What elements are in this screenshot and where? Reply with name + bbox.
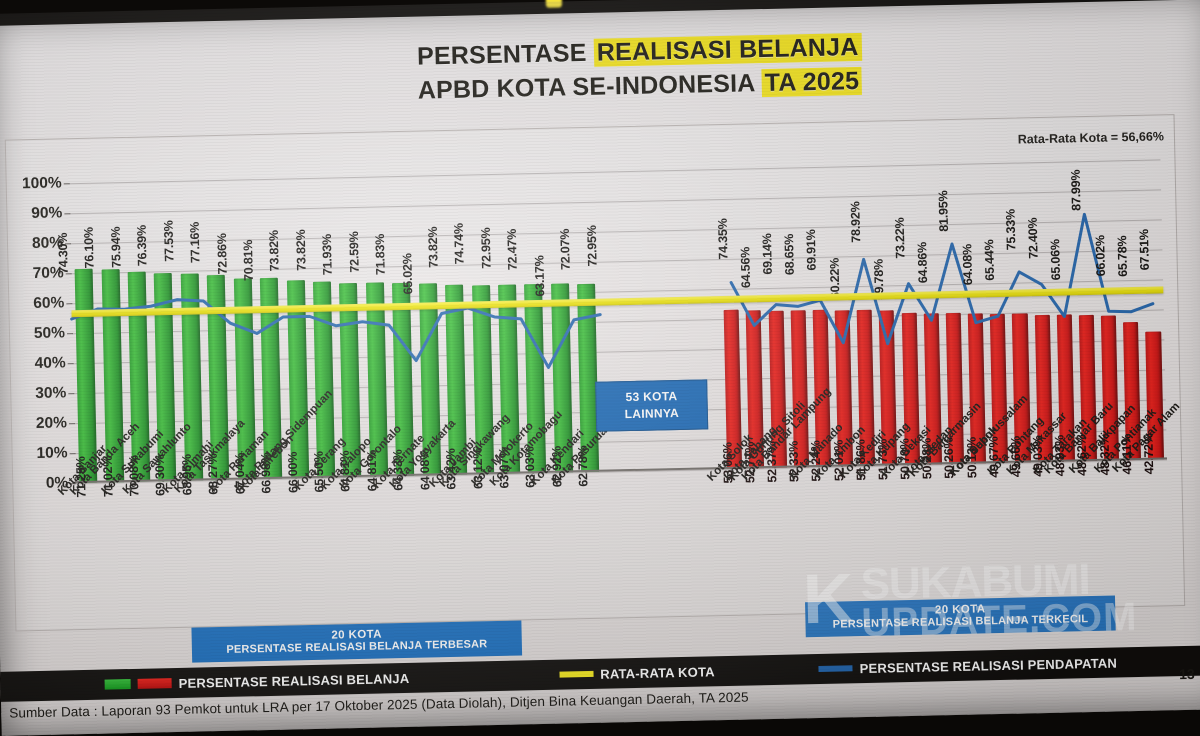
x-label-slot: Kota Manado: [813, 471, 838, 591]
line-value-label: 65.78%: [1115, 235, 1130, 276]
legend-item-belanja: PERSENTASE REALISASI BELANJA: [104, 670, 409, 692]
badge-line2: LAINNYA: [625, 405, 680, 424]
legend-swatch-blue-icon: [819, 665, 853, 672]
line-value-label: 64.08%: [960, 244, 975, 285]
line-value-label: 78.92%: [848, 202, 863, 243]
x-label-slot: Kota Sawahlunto: [155, 485, 184, 606]
line-value-label: 87.99%: [1069, 170, 1084, 211]
line-value-label: 72.59%: [347, 231, 362, 272]
x-label-slot: Kota Medan: [923, 468, 948, 588]
x-label-slot: Kota Makassar: [1034, 466, 1059, 586]
x-label-slot: Kota Pasuruan: [577, 476, 606, 597]
line-value-label: 75.33%: [1003, 209, 1018, 250]
line-value-label: 65.06%: [1048, 239, 1063, 280]
line-value-label: 74.35%: [715, 218, 730, 259]
legend-item-rata-rata: RATA-RATA KOTA: [559, 664, 715, 682]
line-value-label: 73.82%: [426, 226, 441, 267]
page-title: PERSENTASE REALISASI BELANJA APBD KOTA S…: [417, 30, 888, 108]
page-number: 13: [1179, 666, 1195, 682]
legend-swatch-green-icon: [105, 679, 131, 690]
x-label-slot: Kota Cirebon: [260, 483, 289, 604]
slide-panel: PERSENTASE REALISASI BELANJA APBD KOTA S…: [0, 0, 1200, 736]
line-value-label: 77.16%: [188, 221, 203, 262]
line-value-label: 67.51%: [1137, 230, 1152, 271]
x-label-slot: Kota Mojokerto: [498, 477, 527, 598]
status-led: [545, 0, 562, 8]
line-value-label: 69.14%: [760, 233, 775, 274]
legend-label-rata-rata: RATA-RATA KOTA: [600, 664, 715, 681]
badge-53-kota-lainnya: 53 KOTA LAINNYA: [595, 379, 708, 431]
line-value-label: 64.56%: [738, 247, 753, 288]
x-label-slot: Kota Ternate: [392, 480, 421, 601]
x-label-slot: Kota Bandar Lampung: [790, 471, 815, 591]
line-value-label: 64.86%: [915, 242, 930, 283]
line-value-label: 69.91%: [804, 230, 819, 271]
bar: 49.67%: [990, 314, 1008, 463]
title-line1-plain: PERSENTASE: [417, 39, 594, 71]
line-value-label: 73.22%: [893, 218, 908, 259]
badge-line1: 53 KOTA: [625, 388, 677, 407]
y-axis-tick: 40%: [34, 354, 65, 373]
average-annotation: Rata-Rata Kota = 56,66%: [1018, 129, 1165, 146]
x-label-slot: Kota Banda Aceh: [102, 486, 131, 607]
x-label-slot: Kota Singkawang: [472, 478, 501, 599]
x-label-slot: Kota Tasikmalaya: [207, 484, 236, 605]
legend-swatch-yellow-icon: [559, 671, 593, 678]
x-label-slot: Kota Depok: [968, 467, 993, 587]
legend-label-pendapatan: PERSENTASE REALISASI PENDAPATAN: [860, 655, 1118, 676]
x-label-slot: Kota Sukabumi: [128, 485, 157, 606]
line-value-label: 71.93%: [320, 234, 335, 275]
x-label-slot: Kota Bontang: [1012, 466, 1037, 586]
monitor-bezel: [0, 0, 1200, 26]
x-label-slot: Kota Palopo: [339, 481, 368, 602]
x-label-slot: Kota Kendari: [551, 476, 580, 597]
line-value-label: 74.74%: [452, 223, 467, 264]
x-label-slot: Kota Kotamobagu: [524, 477, 553, 598]
monitor-photo: PERSENTASE REALISASI BELANJA APBD KOTA S…: [0, 0, 1200, 720]
y-axis-tick: 60%: [33, 294, 64, 313]
line-value-label: 65.44%: [982, 239, 997, 280]
x-label-slot: Kota Serang: [313, 481, 342, 602]
x-axis-labels-left: Kota BanjarKota Banda AcehKota SukabumiK…: [75, 476, 606, 608]
x-label-slot: Kota Gorontalo: [366, 480, 395, 601]
legend-item-pendapatan: PERSENTASE REALISASI PENDAPATAN: [819, 655, 1118, 677]
line-value-label: 72.07%: [558, 228, 573, 269]
line-value-label: 77.53%: [161, 221, 176, 262]
legend-swatch-red-icon: [138, 678, 172, 689]
x-label-slot: Kota Jambi: [445, 479, 474, 600]
line-value-label: 75.94%: [109, 227, 124, 268]
x-label-slot: Kota Tarakan: [1056, 465, 1081, 585]
x-label-slot: Kota Kediri: [857, 470, 882, 590]
line-value-label: 66.02%: [1093, 235, 1108, 276]
line-value-label: 73.82%: [294, 229, 309, 270]
x-label-slot: Kota Ambon: [835, 470, 860, 590]
line-value-label: 72.95%: [479, 228, 494, 269]
caption-terbesar: 20 KOTA PERSENTASE REALISASI BELANJA TER…: [191, 620, 522, 662]
title-line2-highlight: TA 2025: [761, 67, 862, 97]
chart-frame: Rata-Rata Kota = 56,66% 100%90%80%70%60%…: [5, 114, 1185, 631]
x-label-slot: Kota Yogyakarta: [419, 479, 448, 600]
x-label-slot: Kota Pagar Alam: [1145, 463, 1170, 583]
line-value-label: 72.47%: [505, 228, 520, 269]
x-label-slot: Kota Banjar Baru: [1079, 465, 1104, 585]
line-value-label: 74.30%: [56, 233, 71, 274]
bar: 52.33%: [790, 310, 808, 467]
line-value-label: 73.82%: [267, 230, 282, 271]
legend-label-belanja: PERSENTASE REALISASI BELANJA: [178, 670, 409, 690]
x-label-slot: Kota Pariaman: [234, 483, 263, 604]
title-line2-plain: APBD KOTA SE-INDONESIA: [417, 69, 761, 104]
line-value-label: 63.17%: [532, 256, 547, 297]
line-value-label: 72.86%: [214, 234, 229, 275]
line-value-label: 70.81%: [241, 239, 256, 280]
y-axis-tick: 50%: [34, 324, 65, 343]
line-value-label: 68.65%: [782, 234, 797, 275]
x-label-slot: Kota Solok: [724, 473, 749, 593]
x-label-slot: Kota Sabang: [746, 472, 771, 592]
x-label-slot: Kota Banjarmasin: [946, 468, 971, 588]
x-axis-labels-right: Kota SolokKota SabangKota Gunung SitoliK…: [724, 463, 1170, 593]
y-axis-tick: 100%: [22, 174, 62, 193]
x-label-slot: Kota Kupang: [879, 469, 904, 589]
x-label-slot: Kota Padang Sidempuan: [287, 482, 316, 603]
y-axis-tick: 20%: [36, 414, 67, 433]
x-label-slot: Kota Subulussalam: [990, 467, 1015, 587]
line-value-label: 72.40%: [1026, 217, 1041, 258]
x-label-slot: Kota Pontianak: [1123, 464, 1148, 584]
line-value-label: 76.39%: [135, 225, 150, 266]
x-label-slot: Kota Bekasi: [901, 469, 926, 589]
y-axis-tick: 90%: [31, 204, 62, 223]
y-axis-tick: 30%: [35, 384, 66, 403]
x-label-slot: Kota Balikpapan: [1101, 464, 1126, 584]
line-value-label: 81.95%: [936, 191, 951, 232]
line-value-label: 71.83%: [373, 233, 388, 274]
y-axis-tick: 10%: [36, 444, 67, 463]
caption-terkecil: 20 KOTA PERSENTASE REALISASI BELANJA TER…: [805, 596, 1116, 638]
line-value-label: 76.10%: [82, 227, 97, 268]
title-line1-highlight: REALISASI BELANJA: [593, 33, 861, 67]
x-label-slot: Kota Gunung Sitoli: [768, 472, 793, 592]
line-value-label: 65.02%: [400, 253, 415, 294]
line-value-label: 72.95%: [584, 225, 599, 266]
x-label-slot: Kota Banjar: [75, 487, 104, 608]
x-label-slot: Kota Cimahi: [181, 484, 210, 605]
